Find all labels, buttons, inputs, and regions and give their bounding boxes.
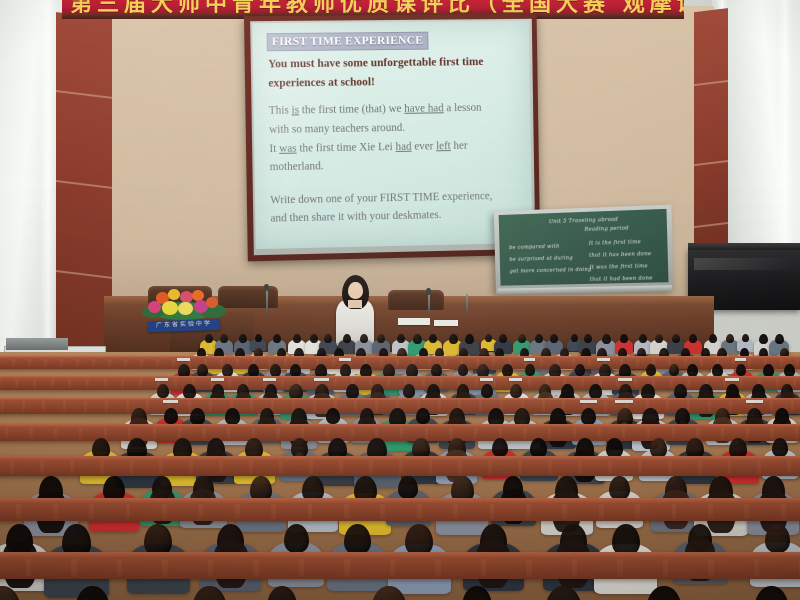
slide-lead-line-2: experiences at school! [268,73,520,92]
blackboard-left-line-1: be compared with [509,243,560,252]
blackboard-right-line-3: It was the first time [589,262,648,272]
blackboard-left-line-2: be surprised at during [509,254,573,264]
table-paper-2 [434,320,458,326]
underline-had: had [395,140,411,152]
av-equipment [6,338,68,350]
teacher-presenter-face [348,282,363,299]
flower-arrangement [140,288,228,322]
slide-task-line-2: and then share it with your deskmates. [270,207,522,228]
right-wall-highlight-b [778,0,792,250]
blackboard-left-line-3: get more concerned in doing [510,266,592,276]
underline-have-had: have had [404,103,444,116]
microphone-stem-1 [266,288,268,314]
left-wall-highlight [40,0,56,352]
lecture-hall-photo: 第三届大师中青年教师优质课评比（全国大赛 观摩课） FIRST TIME EXP… [0,0,800,600]
microphone-stem-2 [428,292,430,314]
underline-was: was [279,142,297,154]
microphone-head-1 [264,284,269,291]
slide-task-line-1: Write down one of your FIRST TIME experi… [270,188,522,208]
teacher-presenter-neck [348,300,362,308]
slide-example-1: This is the first time (that) we have ha… [269,101,521,120]
blackboard-right-line-1: It is the first time [589,238,641,248]
table-paper-1 [398,318,430,325]
slide-example-2: It was the first time Xie Lei had ever l… [269,138,521,158]
blackboard-subheading: Reading period [584,224,629,234]
stage-chair-3 [388,290,444,310]
blackboard-surface: Unit 5 Traveling abroad Reading period b… [499,209,669,286]
blackboard-right-line-2: that it has been done [589,250,651,260]
slide-lead-line-1: You must have some unforgettable first t… [268,55,520,74]
microphone-head-2 [426,288,431,295]
projection-screen-surface: FIRST TIME EXPERIENCE You must have some… [252,21,532,249]
underline-left: left [436,140,451,152]
slide-example-1-cont: with so many teachers around. [269,119,521,138]
slide-example-2-cont: motherland. [270,156,522,176]
piano-reflection [694,258,794,270]
blackboard-right-line-4: that it had been done [590,274,653,283]
microphone-stem-3 [466,294,468,314]
slide-title: FIRST TIME EXPERIENCE [267,32,429,52]
piano-lid [688,243,800,250]
blackboard: Unit 5 Traveling abroad Reading period b… [494,205,674,294]
right-acoustic-panel-column [694,8,728,262]
